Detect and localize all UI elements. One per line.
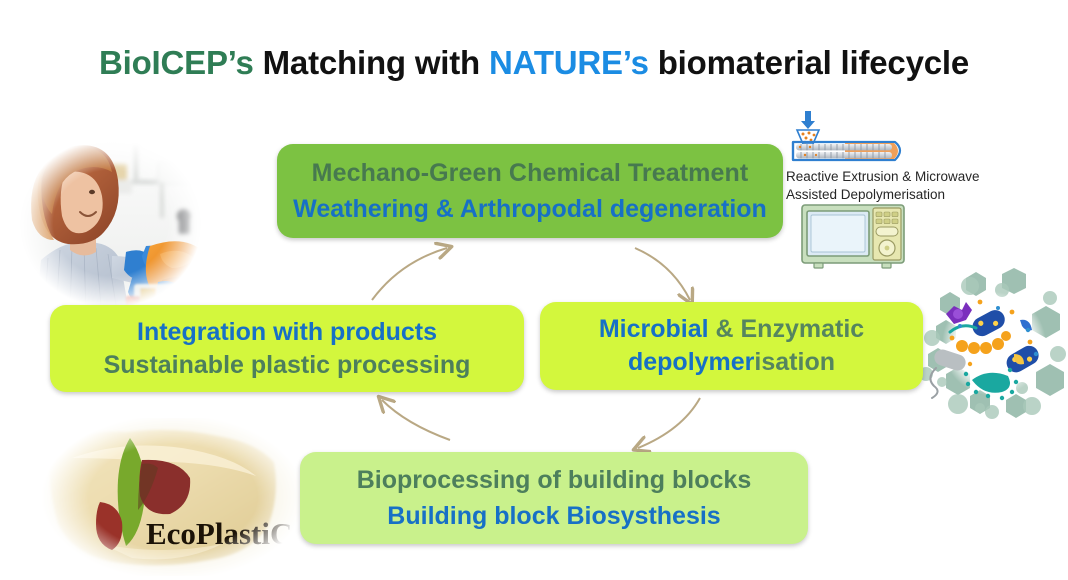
reactive-extruder-icon	[783, 110, 908, 165]
cycle-box-left-line1: Integration with products	[137, 318, 437, 347]
page-title: BioICEP’s Matching with NATURE’s biomate…	[0, 44, 1068, 82]
cycle-box-bioprocessing[interactable]: Bioprocessing of building blocks Buildin…	[300, 452, 808, 544]
svg-text:EcoPlastiC: EcoPlastiC	[146, 516, 292, 551]
cycle-box-right-line2-b: isation	[754, 348, 835, 376]
cycle-box-right-line2-a: depolymer	[628, 348, 754, 376]
cycle-box-top-line2: Weathering & Arthropodal degeneration	[293, 195, 767, 224]
title-part-biomaterial: biomaterial lifecycle	[658, 44, 969, 81]
arrow-top-to-right	[635, 248, 690, 300]
microwave-oven-icon	[800, 202, 908, 274]
cycle-box-right-line1-b: & Enzymatic	[709, 315, 865, 343]
cycle-box-bottom-line2: Building block Biosysthesis	[387, 502, 720, 531]
title-part-bioicep: BioICEP’s	[99, 44, 254, 81]
reactive-extruder-graphic	[783, 110, 908, 165]
cycle-box-right-line1-a: Microbial	[599, 315, 709, 343]
arrow-right-to-bottom	[638, 398, 700, 448]
microbe-cluster-graphic	[910, 268, 1068, 420]
ecoplastic-photo: EcoPlastiC	[42, 418, 304, 576]
extrusion-caption: Reactive Extrusion & Microwave Assisted …	[786, 168, 1001, 204]
cycle-box-top-line1: Mechano-Green Chemical Treatment	[312, 159, 749, 188]
arrow-left-to-top	[372, 248, 447, 300]
extrusion-caption-line1: Reactive Extrusion & Microwave	[786, 168, 1001, 186]
title-part-nature: NATURE’s	[489, 44, 649, 81]
cycle-box-bottom-line1: Bioprocessing of building blocks	[357, 466, 751, 495]
microbe-cluster-icon	[910, 268, 1068, 420]
researcher-photo-graphic	[8, 128, 213, 318]
title-part-matching: Matching with	[263, 44, 480, 81]
cycle-box-right-line2: depolymerisation	[628, 348, 835, 377]
cycle-box-integration[interactable]: Integration with products Sustainable pl…	[50, 305, 524, 392]
arrow-bottom-to-left	[382, 400, 450, 440]
researcher-photo	[8, 128, 213, 318]
cycle-box-right-line1: Microbial & Enzymatic	[599, 315, 864, 344]
slide-canvas: BioICEP’s Matching with NATURE’s biomate…	[0, 0, 1068, 580]
ecoplastic-photo-graphic: EcoPlastiC	[42, 418, 304, 576]
microwave-oven-graphic	[800, 202, 908, 274]
cycle-box-left-line2: Sustainable plastic processing	[104, 351, 471, 380]
cycle-box-mechano-green[interactable]: Mechano-Green Chemical Treatment Weather…	[277, 144, 783, 238]
cycle-box-depolymerisation[interactable]: Microbial & Enzymatic depolymerisation	[540, 302, 923, 390]
